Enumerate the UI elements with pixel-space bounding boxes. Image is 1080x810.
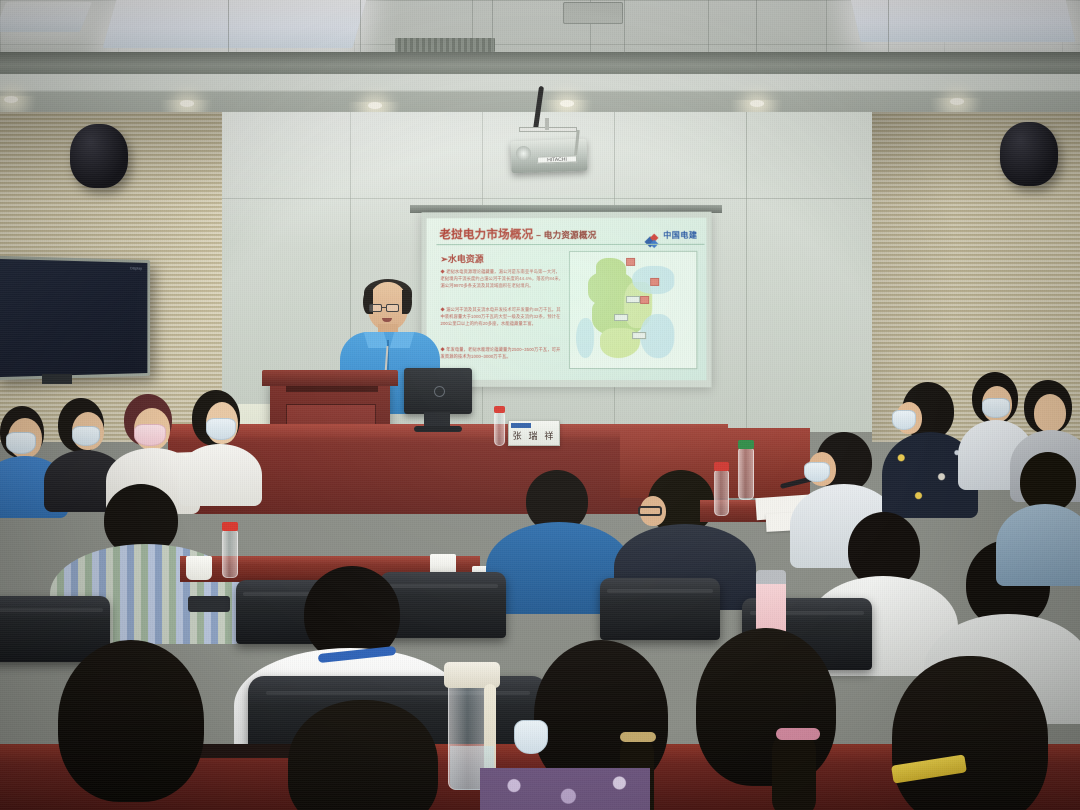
water-bottle [738, 448, 754, 500]
slide-title-dash: – [533, 230, 543, 240]
podium-shelf [286, 386, 378, 392]
ceiling-light-panel-left [103, 0, 368, 48]
presenter-hair-side [402, 290, 412, 314]
ceiling-downlight [950, 98, 964, 105]
presentation-slide: 老挝电力市场概况 – 电力资源概况 中国电建 PowerChina ➢水电资源 … [427, 218, 707, 381]
logo-chinese-name: 中国电建 [663, 231, 697, 240]
soffit-seam [360, 0, 361, 58]
wall-mounted-tv: Display [0, 256, 150, 381]
person-torso [996, 504, 1080, 586]
soffit-seam [624, 0, 625, 58]
projection-screen: 老挝电力市场概况 – 电力资源概况 中国电建 PowerChina ➢水电资源 … [422, 212, 712, 388]
presenter-glasses-bridge [382, 307, 386, 308]
person-hair [892, 656, 1048, 810]
tv-wall-mount [42, 374, 72, 384]
ceiling-light-panel-far-left [0, 2, 92, 32]
dell-logo-icon [434, 386, 445, 397]
bottle-cap [222, 522, 238, 531]
person-hair [1020, 452, 1076, 512]
wall-speaker-left [70, 124, 128, 188]
water-bottle [494, 412, 505, 446]
person-hair [58, 640, 204, 802]
face-mask [892, 410, 916, 430]
placard-name-text: 张 瑞 祥 [509, 429, 559, 442]
monitor-base [414, 426, 462, 432]
map-marker-icon [626, 258, 635, 266]
face-mask [134, 424, 166, 446]
hair-tie [776, 728, 820, 740]
face-mask [206, 418, 236, 440]
map-label-box [614, 314, 628, 321]
face-mask [514, 720, 548, 754]
map-label-box [626, 296, 640, 303]
slide-paragraph: ◆ 老挝水电资源理论蕴藏量，湄公河是东南亚半岛第一大河，老挝境内干流长度约占湄公… [440, 268, 564, 289]
ceiling-downlight [368, 102, 382, 109]
face-mask [72, 426, 100, 446]
wall-speaker-right [1000, 122, 1058, 186]
ceiling-downlight [4, 96, 18, 103]
face-mask [804, 462, 830, 482]
presenter-glasses-left-lens [369, 304, 382, 312]
audience-person-foreground [30, 640, 230, 810]
face-mask [6, 432, 36, 454]
audience-person-foreground [264, 700, 464, 810]
podium-top-surface [262, 370, 398, 386]
soffit-seam [492, 0, 493, 58]
hair-tie [620, 732, 656, 742]
thermos-lid [756, 570, 786, 584]
name-placard: 张 瑞 祥 [508, 420, 560, 446]
powerchina-diamond-icon [646, 235, 660, 249]
projector-rod [545, 118, 549, 130]
person-hair [288, 700, 438, 810]
person-floral-top [480, 768, 650, 810]
placard-accent-bar [511, 423, 531, 428]
ceiling-air-diffuser-icon [395, 38, 495, 52]
slide-paragraph: ◆ 湄公河干流及其支流水电开发技术可开发量约48万千瓦，其中装机容量大于1000… [440, 306, 564, 327]
audience-person-foreground [676, 628, 866, 810]
audience-person [1000, 452, 1080, 572]
audience-person-foreground [870, 656, 1080, 810]
slide-map-image [569, 251, 697, 369]
water-bottle [714, 470, 729, 516]
ceiling-downlight [180, 100, 194, 107]
paper-cup [186, 556, 212, 580]
dell-monitor-back [404, 368, 472, 414]
person-face [1034, 394, 1066, 432]
map-marker-icon [650, 278, 659, 286]
tv-brand-label: Display [130, 265, 142, 270]
soffit-face [0, 52, 1080, 74]
eyeglasses-icon [638, 506, 662, 516]
water-bottle [222, 530, 238, 578]
ceiling-light-panel-right [849, 0, 1075, 42]
presenter-glasses-right-lens [386, 304, 399, 312]
slide-paragraph: ◆ 年发电量，老挝水能理论蕴藏量为2500–3500万千瓦，可开发资源的技术为1… [440, 346, 564, 360]
projector-brand-label: HITACHI [537, 155, 577, 163]
map-marker-icon [640, 296, 649, 304]
slide-title-sub: 电力资源概况 [544, 230, 597, 240]
bottle-cap [738, 440, 754, 449]
slide-section-heading: ➢水电资源 [440, 252, 483, 265]
slide-title-main: 老挝电力市场概况 [439, 229, 533, 241]
ceiling-downlight [560, 100, 574, 107]
bottle-cap [494, 406, 505, 413]
person-ponytail [772, 732, 816, 810]
ceiling-downlight [750, 100, 764, 107]
soffit-seam [888, 0, 889, 58]
soffit-seam [228, 0, 229, 58]
ceiling-vent-icon [563, 2, 623, 24]
soffit-seam [756, 0, 757, 58]
slide-title: 老挝电力市场概况 – 电力资源概况 [439, 226, 596, 242]
conference-room-photo: HITACHI 老挝电力市场概况 – 电力资源概况 中国电建 PowerChin… [0, 0, 1080, 810]
presenter-collar [364, 332, 389, 348]
smartphone [188, 596, 230, 612]
map-label-box [632, 332, 646, 339]
face-mask [982, 398, 1010, 418]
bottle-cap [714, 462, 729, 471]
